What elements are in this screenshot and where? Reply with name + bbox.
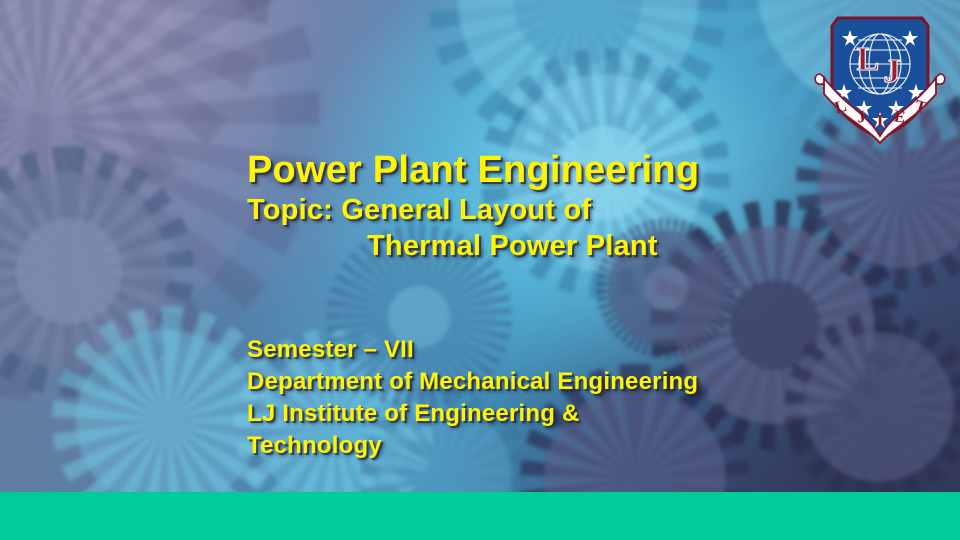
presentation-slide: L J L J I E T: [0, 0, 960, 540]
ljiet-shield-logo: L J L J I E T: [812, 12, 948, 144]
svg-text:I: I: [877, 111, 884, 130]
department-label: Department of Mechanical Engineering: [247, 366, 907, 398]
svg-text:J: J: [884, 53, 901, 90]
title-block: Power Plant Engineering Topic: General L…: [247, 148, 867, 264]
topic-line-1: Topic: General Layout of: [247, 192, 867, 228]
footer-accent-bar: [0, 492, 960, 540]
institute-label-line-2: Technology: [247, 430, 907, 462]
semester-label: Semester – VII: [247, 334, 907, 366]
institute-label-line-1: LJ Institute of Engineering &: [247, 398, 907, 430]
affiliation-block: Semester – VII Department of Mechanical …: [247, 334, 907, 462]
slide-title: Power Plant Engineering: [247, 148, 867, 192]
topic-line-2: Thermal Power Plant: [247, 228, 867, 264]
svg-text:L: L: [857, 41, 880, 78]
